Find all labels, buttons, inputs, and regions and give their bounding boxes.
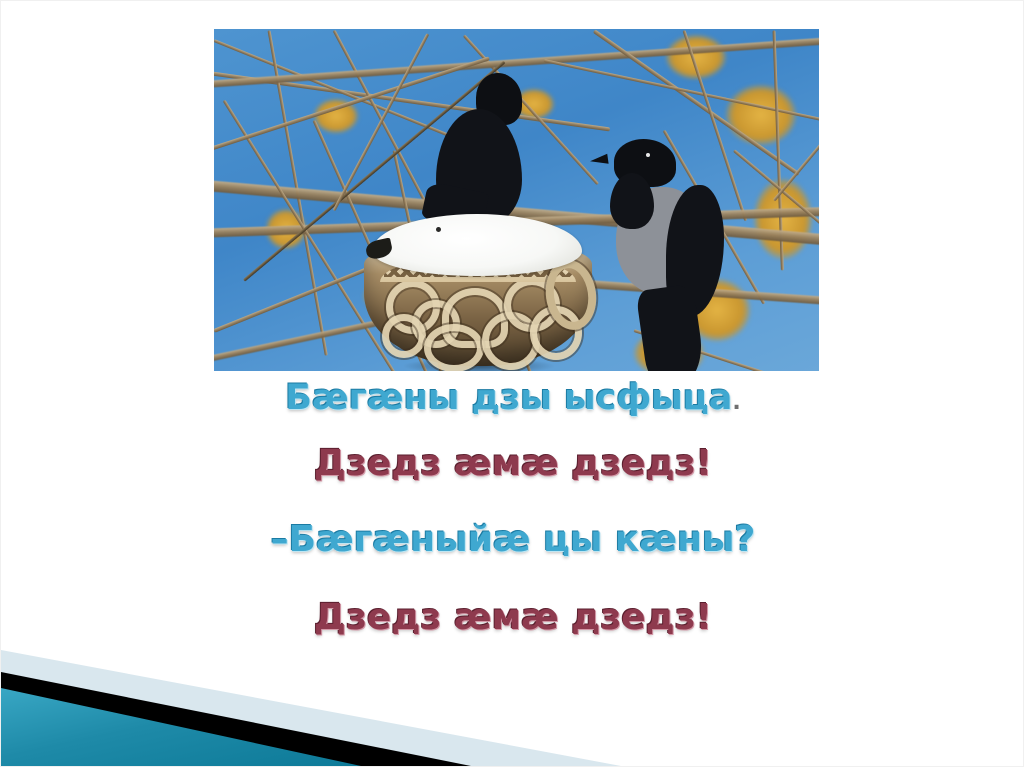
bowl-liquid (372, 214, 582, 276)
text-line-1-period: . (732, 390, 740, 415)
text-line-4: Дзедз æмæ дзедз! (1, 600, 1024, 636)
bowl-rim-dot (436, 227, 441, 232)
deco-teal-triangle (1, 688, 361, 766)
crow-left (414, 69, 544, 229)
leaf-cluster (726, 85, 796, 145)
deco-pale-band (1, 650, 621, 766)
bowl-carving (424, 324, 484, 371)
crow-right (574, 139, 754, 371)
text-line-2: Дзедз æмæ дзедз! (1, 446, 1024, 482)
bowl-carving (382, 314, 426, 358)
slide-canvas: Бæгæны дзы ысфыца. Дзедз æмæ дзедз! –Бæг… (0, 0, 1024, 767)
text-line-1-main: Бæгæны дзы ысфыца (285, 378, 732, 418)
text-block: Бæгæны дзы ысфыца. Дзедз æмæ дзедз! –Бæг… (1, 381, 1024, 636)
crow-eye (646, 153, 650, 157)
carved-beer-bowl (364, 214, 592, 366)
crow-beak (589, 154, 608, 166)
text-line-3: –Бæгæныйæ цы кæны? (1, 522, 1024, 558)
slide-image (214, 29, 819, 371)
text-line-1: Бæгæны дзы ысфыца. (1, 381, 1024, 416)
deco-black-stripe (1, 672, 471, 766)
photo-scene (214, 29, 819, 371)
